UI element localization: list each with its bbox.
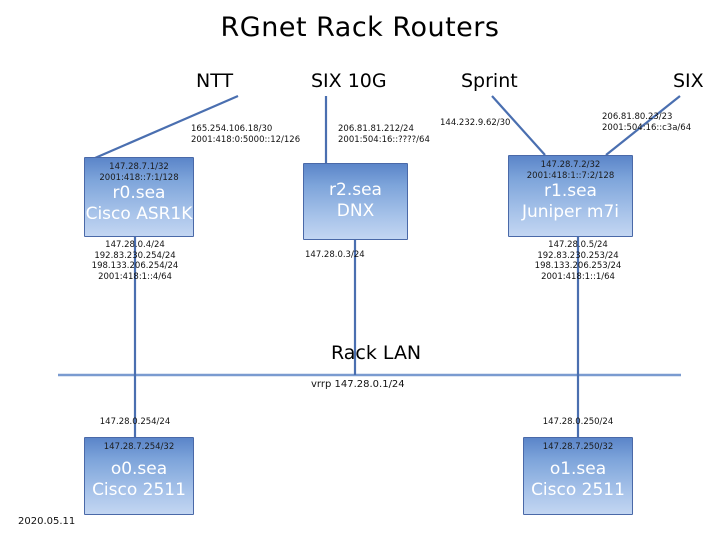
uplink-label-ntt: NTT [196,70,233,92]
uplink-addresses-six: 206.81.80.23/23 2001:504:16::c3a/64 [602,112,691,133]
router-o0-model: Cisco 2511 [85,480,193,501]
lan-r0-line1: 147.28.0.4/24 [55,240,215,251]
lan-o1-line1: 147.28.0.250/24 [498,417,658,428]
uplink-ntt-v6: 2001:418:0:5000::12/126 [191,135,300,146]
uplink-ntt-v4: 165.254.106.18/30 [191,124,300,135]
uplink-addresses-ntt: 165.254.106.18/30 2001:418:0:5000::12/12… [191,124,300,145]
lan-o0-line1: 147.28.0.254/24 [55,417,215,428]
vrrp-label: vrrp 147.28.0.1/24 [311,379,405,390]
router-o1-name: o1.sea [524,459,632,480]
uplink-six-v4: 206.81.80.23/23 [602,112,691,123]
router-box-o0[interactable]: 147.28.7.254/32 o0.sea Cisco 2511 [84,437,194,515]
uplink-six10g-v4: 206.81.81.212/24 [338,124,430,135]
uplink-six-v6: 2001:504:16::c3a/64 [602,123,691,134]
lan-addresses-r2: 147.28.0.3/24 [305,250,365,261]
lan-r1-line3: 198.133.206.253/24 [498,261,658,272]
uplink-addresses-sprint: 144.232.9.62/30 [440,118,510,129]
lan-r0-line2: 192.83.230.254/24 [55,251,215,262]
router-r0-loopback-v4: 147.28.7.1/32 [85,158,193,173]
router-box-r1[interactable]: 147.28.7.2/32 2001:418:1::7:2/128 r1.sea… [508,155,633,237]
router-r1-loopback-v6: 2001:418:1::7:2/128 [509,171,632,182]
lan-addresses-r0: 147.28.0.4/24 192.83.230.254/24 198.133.… [55,240,215,282]
rack-lan-label: Rack LAN [331,342,421,364]
uplink-addresses-six10g: 206.81.81.212/24 2001:504:16::????/64 [338,124,430,145]
router-o0-loopback-v4: 147.28.7.254/32 [85,438,193,453]
lan-r0-line3: 198.133.206.254/24 [55,261,215,272]
lan-addresses-r1: 147.28.0.5/24 192.83.230.253/24 198.133.… [498,240,658,282]
router-r0-loopback-v6: 2001:418::7:1/128 [85,173,193,184]
lan-addresses-o1: 147.28.0.250/24 [498,417,658,428]
router-r1-name: r1.sea [509,181,632,202]
uplink-label-six: SIX [673,70,704,92]
lan-r1-line4: 2001:418:1::1/64 [498,272,658,283]
lan-r1-line1: 147.28.0.5/24 [498,240,658,251]
uplink-six10g-v6: 2001:504:16::????/64 [338,135,430,146]
router-r2-name: r2.sea [304,180,407,201]
uplink-sprint-v4: 144.232.9.62/30 [440,118,510,129]
router-o0-name: o0.sea [85,459,193,480]
uplink-label-sprint: Sprint [461,70,518,92]
router-r1-model: Juniper m7i [509,202,632,223]
lan-r1-line2: 192.83.230.253/24 [498,251,658,262]
router-o1-model: Cisco 2511 [524,480,632,501]
router-r1-loopback-v4: 147.28.7.2/32 [509,156,632,171]
router-box-o1[interactable]: 147.28.7.250/32 o1.sea Cisco 2511 [523,437,633,515]
diagram-canvas: RGnet Rack Routers NTT SIX 10G Sprint SI… [0,0,720,540]
lan-addresses-o0: 147.28.0.254/24 [55,417,215,428]
router-r0-model: Cisco ASR1K [85,204,193,225]
router-box-r2[interactable]: r2.sea DNX [303,163,408,240]
lan-r0-line4: 2001:418:1::4/64 [55,272,215,283]
router-box-r0[interactable]: 147.28.7.1/32 2001:418::7:1/128 r0.sea C… [84,157,194,237]
lan-r2-line1: 147.28.0.3/24 [305,250,365,261]
router-r2-model: DNX [304,201,407,222]
date-stamp: 2020.05.11 [18,516,75,527]
router-r0-name: r0.sea [85,183,193,204]
uplink-label-six10g: SIX 10G [311,70,387,92]
page-title: RGnet Rack Routers [0,12,720,43]
router-o1-loopback-v4: 147.28.7.250/32 [524,438,632,453]
